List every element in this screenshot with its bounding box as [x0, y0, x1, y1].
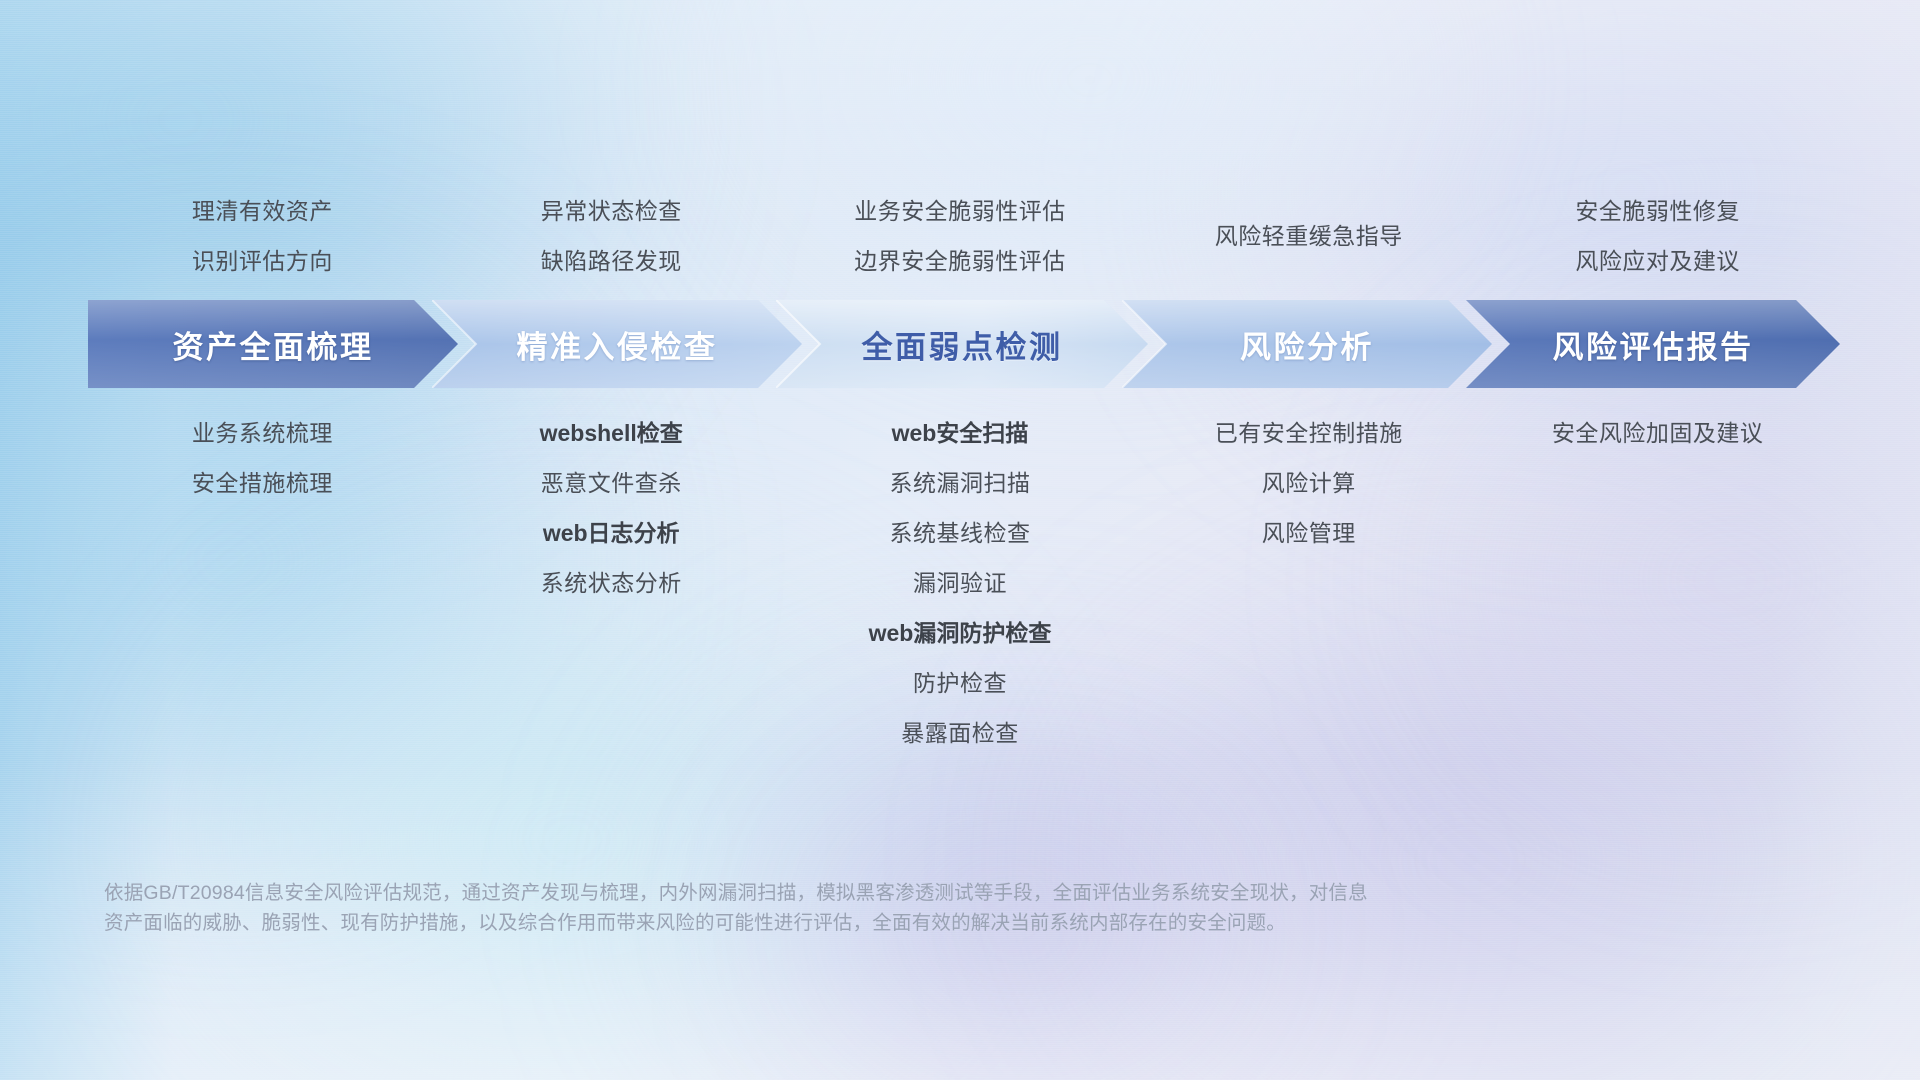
list-item: 暴露面检查 [901, 708, 1019, 758]
process-stage-label: 精准入侵检查 [517, 322, 718, 367]
process-stage-label: 风险评估报告 [1553, 322, 1754, 367]
list-item: 理清有效资产 [192, 186, 333, 236]
stage-outputs-5: 安全风险加固及建议 [1483, 408, 1832, 758]
list-item: webshell检查 [540, 408, 683, 458]
stage-outputs-1: 业务系统梳理 安全措施梳理 [88, 408, 437, 758]
list-item: 风险应对及建议 [1575, 236, 1740, 286]
list-item: 安全措施梳理 [192, 458, 333, 508]
process-stage-label: 资产全面梳理 [173, 322, 374, 367]
list-item: 系统漏洞扫描 [889, 458, 1030, 508]
list-item: 风险轻重缓急指导 [1215, 211, 1403, 261]
list-item: 缺陷路径发现 [541, 236, 682, 286]
stage-inputs-5: 安全脆弱性修复 风险应对及建议 [1483, 186, 1832, 286]
list-item: 漏洞验证 [913, 558, 1007, 608]
stage-outputs-3: web安全扫描 系统漏洞扫描 系统基线检查 漏洞验证 web漏洞防护检查 防护检… [786, 408, 1135, 758]
process-stage-label: 风险分析 [1240, 322, 1374, 367]
stage-inputs-2: 异常状态检查 缺陷路径发现 [437, 186, 786, 286]
process-stage-4[interactable]: 风险分析 [1122, 300, 1492, 388]
list-item: 风险管理 [1262, 508, 1356, 558]
process-arrow-band: 资产全面梳理 [88, 300, 1840, 388]
list-item: 恶意文件查杀 [541, 458, 682, 508]
list-item: 已有安全控制措施 [1215, 408, 1403, 458]
footer-description: 依据GB/T20984信息安全风险评估规范，通过资产发现与梳理，内外网漏洞扫描，… [104, 878, 1624, 938]
list-item: 风险计算 [1262, 458, 1356, 508]
stage-outputs-2: webshell检查 恶意文件查杀 web日志分析 系统状态分析 [437, 408, 786, 758]
list-item: 防护检查 [913, 658, 1007, 708]
list-item: 异常状态检查 [541, 186, 682, 236]
slide-canvas: 理清有效资产 识别评估方向 异常状态检查 缺陷路径发现 业务安全脆弱性评估 边界… [0, 0, 1920, 1080]
process-stage-1[interactable]: 资产全面梳理 [88, 300, 458, 388]
list-item: 业务安全脆弱性评估 [854, 186, 1066, 236]
stage-inputs-4: 风险轻重缓急指导 [1134, 186, 1483, 286]
list-item: 系统状态分析 [541, 558, 682, 608]
stage-outputs-row: 业务系统梳理 安全措施梳理 webshell检查 恶意文件查杀 web日志分析 … [88, 408, 1832, 758]
process-stage-3[interactable]: 全面弱点检测 [776, 300, 1148, 388]
list-item: web日志分析 [543, 508, 680, 558]
stage-outputs-4: 已有安全控制措施 风险计算 风险管理 [1134, 408, 1483, 758]
list-item: web安全扫描 [892, 408, 1029, 458]
list-item: 系统基线检查 [889, 508, 1030, 558]
list-item: 安全风险加固及建议 [1552, 408, 1764, 458]
stage-inputs-3: 业务安全脆弱性评估 边界安全脆弱性评估 [786, 186, 1135, 286]
list-item: web漏洞防护检查 [869, 608, 1052, 658]
process-stage-2[interactable]: 精准入侵检查 [432, 300, 802, 388]
list-item: 安全脆弱性修复 [1575, 186, 1740, 236]
stage-inputs-row: 理清有效资产 识别评估方向 异常状态检查 缺陷路径发现 业务安全脆弱性评估 边界… [88, 186, 1832, 286]
list-item: 业务系统梳理 [192, 408, 333, 458]
process-stage-5[interactable]: 风险评估报告 [1466, 300, 1840, 388]
process-stage-label: 全面弱点检测 [862, 322, 1063, 367]
footer-line-1: 依据GB/T20984信息安全风险评估规范，通过资产发现与梳理，内外网漏洞扫描，… [104, 878, 1624, 908]
list-item: 边界安全脆弱性评估 [854, 236, 1066, 286]
footer-line-2: 资产面临的威胁、脆弱性、现有防护措施，以及综合作用而带来风险的可能性进行评估，全… [104, 908, 1624, 938]
stage-inputs-1: 理清有效资产 识别评估方向 [88, 186, 437, 286]
list-item: 识别评估方向 [192, 236, 333, 286]
